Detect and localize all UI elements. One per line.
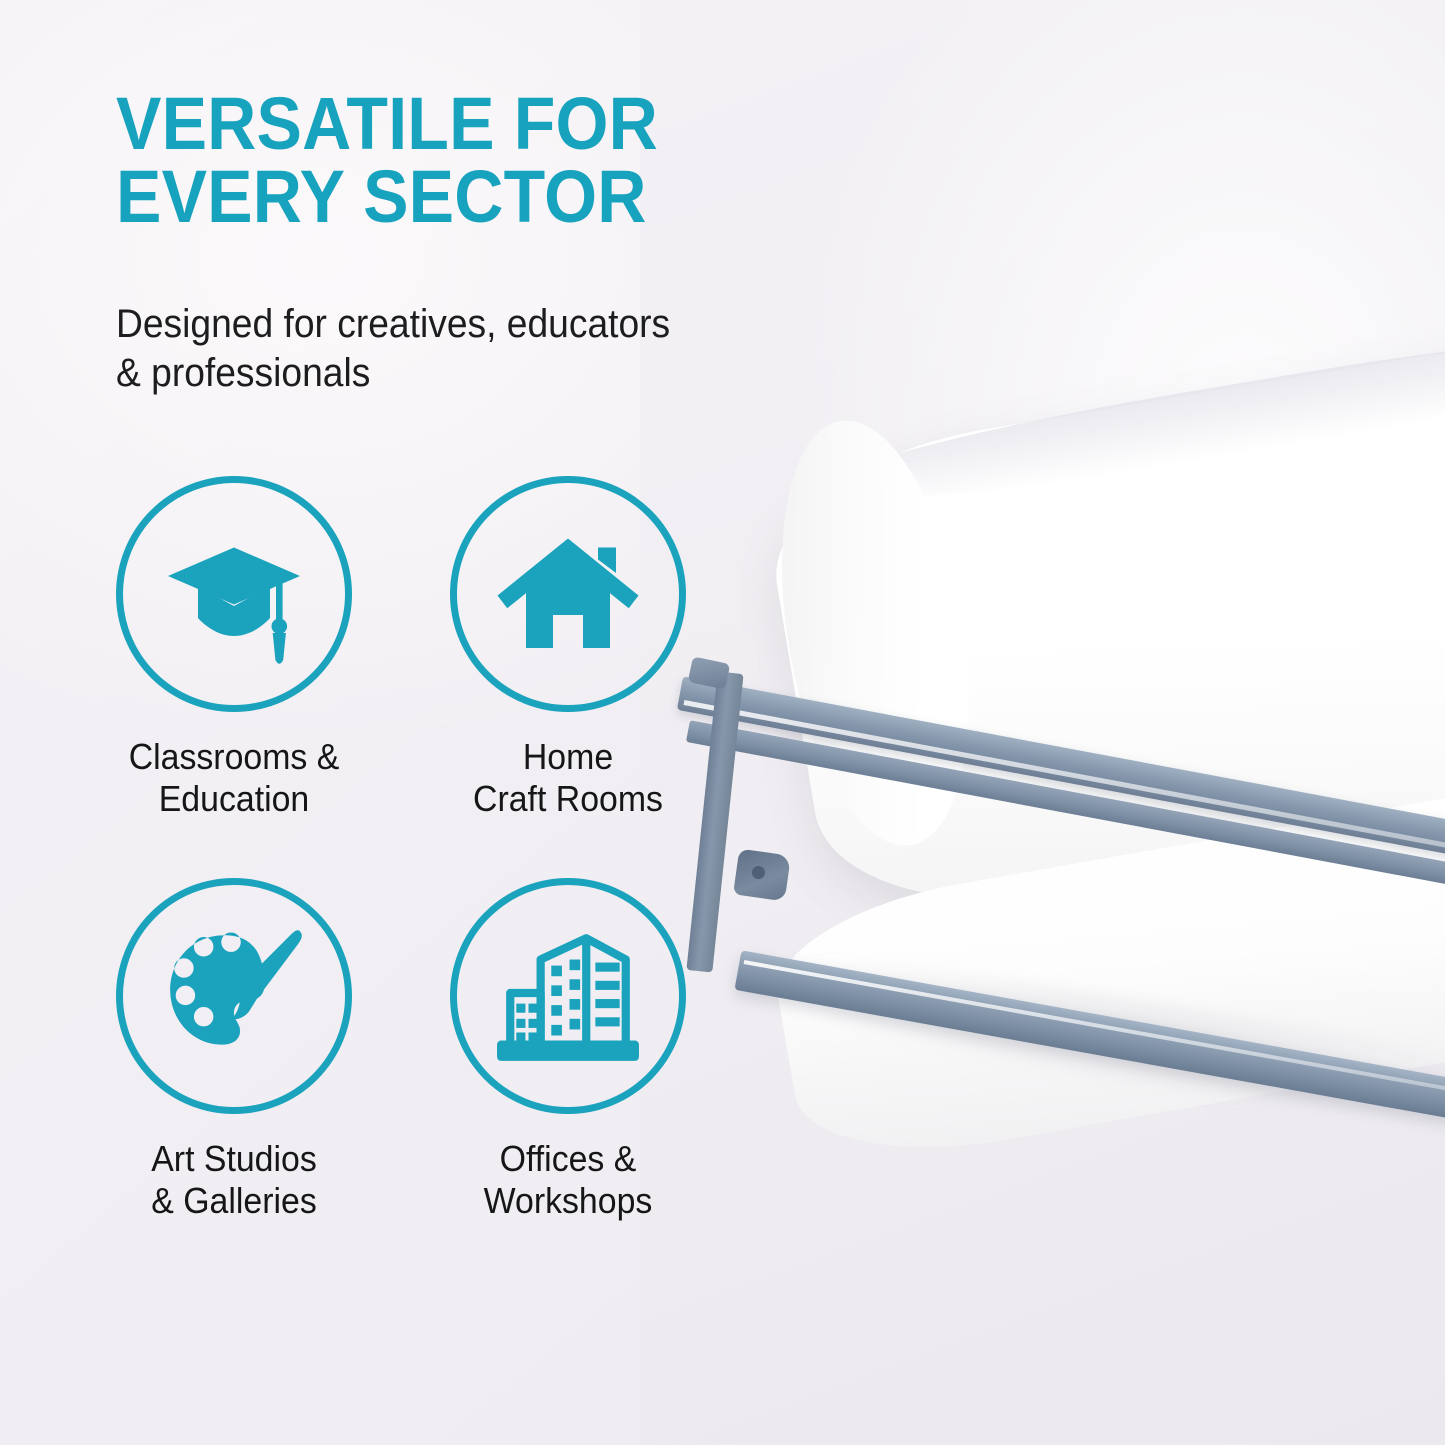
graduation-cap-icon [159, 519, 309, 669]
dispenser-pivot-bolt [752, 866, 765, 879]
house-icon [493, 519, 643, 669]
sector-item-offices: Offices & Workshops [418, 878, 718, 1223]
infographic-canvas: VERSATILE FOR EVERY SECTOR Designed for … [0, 0, 1445, 1445]
art-palette-icon [158, 920, 310, 1072]
headline: VERSATILE FOR EVERY SECTOR [116, 88, 778, 233]
sector-icon-circle [450, 476, 686, 712]
sector-label: Classrooms & Education [93, 736, 375, 821]
sector-label: Art Studios & Galleries [93, 1138, 375, 1223]
sector-icon-circle [116, 878, 352, 1114]
sector-label: Offices & Workshops [427, 1138, 709, 1223]
sector-grid: Classrooms & Education Home Craft Rooms [100, 476, 720, 1256]
office-buildings-icon [492, 920, 644, 1072]
sector-label: Home Craft Rooms [427, 736, 709, 821]
sector-icon-circle [116, 476, 352, 712]
sector-item-home-craft: Home Craft Rooms [418, 476, 718, 821]
sector-item-art-studios: Art Studios & Galleries [84, 878, 384, 1223]
subtitle: Designed for creatives, educators & prof… [116, 300, 767, 398]
sector-item-classrooms: Classrooms & Education [84, 476, 384, 821]
sector-icon-circle [450, 878, 686, 1114]
